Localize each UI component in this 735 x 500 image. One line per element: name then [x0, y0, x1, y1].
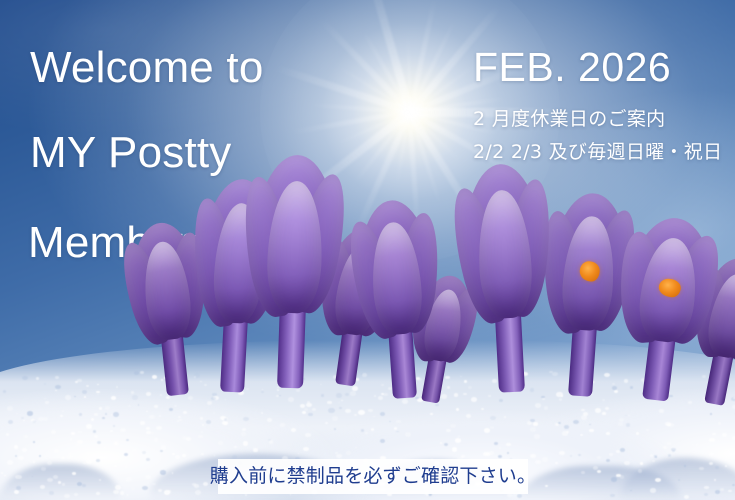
snow-crystal — [113, 412, 119, 416]
snow-crystal — [559, 398, 563, 401]
crocus-flower — [454, 160, 558, 394]
snow-crystal — [402, 399, 408, 404]
snow-crystal — [86, 385, 89, 387]
snow-crystal — [49, 491, 54, 495]
snow-crystal — [699, 467, 703, 470]
snow-crystal — [242, 428, 246, 431]
snow-crystal — [533, 422, 537, 425]
prohibited-items-warning-text: 購入前に禁制品を必ずご確認下さい。 — [210, 466, 536, 487]
snow-crystal — [253, 448, 257, 451]
snow-crystal — [115, 443, 117, 444]
snow-crystal — [41, 467, 46, 471]
snow-crystal — [371, 428, 374, 431]
snow-crystal — [618, 422, 623, 426]
snow-crystal — [16, 486, 21, 490]
snow-crystal — [79, 413, 82, 416]
snow-crystal — [481, 408, 484, 411]
snow-crystal — [597, 456, 600, 458]
snow-crystal — [352, 386, 358, 391]
snow-crystal — [62, 483, 66, 486]
snow-crystal — [172, 453, 175, 455]
welcome-heading-line-2-brand: MY Postty — [30, 129, 232, 177]
snow-crystal — [712, 433, 715, 435]
snow-crystal — [91, 418, 94, 421]
snow-crystal — [722, 433, 727, 437]
snow-crystal — [131, 391, 134, 394]
snow-crystal — [94, 413, 98, 416]
snow-crystal — [78, 431, 81, 433]
snow-crystal — [396, 420, 400, 423]
snow-crystal — [99, 479, 101, 481]
snow-crystal — [99, 407, 102, 409]
snow-crystal — [126, 439, 129, 441]
month-title: FEB. 2026 — [473, 45, 671, 90]
snow-crystal — [114, 465, 117, 467]
snow-crystal — [334, 428, 336, 430]
snow-crystal — [127, 494, 129, 495]
snow-crystal — [161, 445, 167, 449]
snow-crystal — [115, 485, 121, 489]
snow-crystal — [168, 490, 171, 492]
snow-crystal — [14, 445, 18, 448]
snow-crystal — [188, 396, 193, 400]
snow-crystal — [6, 433, 9, 435]
snow-crystal — [435, 404, 438, 407]
snow-crystal — [471, 397, 477, 402]
snow-crystal — [72, 472, 76, 475]
welcome-heading-line-1: Welcome to — [30, 44, 264, 92]
snow-crystal — [595, 408, 601, 413]
snow-crystal — [213, 412, 215, 414]
snow-crystal — [732, 436, 735, 440]
snow-crystal — [325, 422, 327, 424]
snow-crystal — [70, 438, 73, 440]
snow-crystal — [94, 435, 98, 438]
snow-crystal — [542, 457, 548, 461]
snow-crystal — [126, 477, 131, 481]
snow-crystal — [499, 447, 501, 449]
snow-crystal — [466, 414, 471, 418]
snow-crystal — [62, 410, 64, 412]
snow-crystal — [655, 478, 660, 482]
snow-crystal — [646, 429, 649, 431]
snow-crystal — [102, 417, 105, 419]
snow-crystal — [58, 481, 61, 483]
snow-crystal — [276, 395, 279, 397]
snow-crystal — [394, 427, 398, 430]
snow-crystal — [650, 454, 654, 457]
snow-crystal — [714, 479, 716, 481]
snow-crystal — [570, 455, 572, 457]
snow-crystal — [146, 427, 150, 430]
snow-crystal — [710, 413, 712, 415]
snow-crystal — [152, 483, 155, 485]
snow-crystal — [430, 413, 432, 415]
snow-crystal — [195, 490, 201, 494]
snow-crystal — [113, 425, 115, 426]
snow-crystal — [456, 408, 459, 410]
snow-crystal — [55, 385, 61, 389]
snow-crystal — [580, 434, 583, 436]
snow-crystal — [625, 415, 627, 416]
snow-crystal — [650, 488, 656, 492]
snow-crystal — [444, 443, 448, 446]
snow-crystal — [380, 412, 385, 416]
snow-crystal — [40, 485, 45, 489]
snow-crystal — [628, 415, 630, 416]
snow-crystal — [77, 482, 82, 486]
snow-crystal — [605, 407, 609, 410]
snow-crystal — [234, 446, 236, 448]
snow-crystal — [355, 447, 357, 448]
snow-crystal — [332, 416, 338, 421]
holiday-notice-line-2: 2/2 2/3 及び毎週日曜・祝日 — [473, 141, 722, 164]
snow-crystal — [76, 444, 79, 446]
snow-crystal — [328, 408, 334, 413]
crocus-flower — [242, 151, 346, 389]
snow-crystal — [179, 419, 182, 421]
snow-crystal — [132, 448, 137, 452]
snow-crystal — [160, 470, 166, 474]
snow-crystal — [7, 406, 13, 411]
snow-crystal — [14, 490, 19, 494]
snow-crystal — [201, 453, 204, 455]
snow-crystal — [154, 438, 158, 441]
snow-crystal — [22, 376, 28, 380]
snow-crystal — [1, 472, 3, 474]
snow-crystal — [178, 416, 181, 418]
snow-crystal — [450, 424, 456, 429]
snow-crystal — [7, 460, 13, 465]
snow-crystal — [243, 441, 248, 445]
snow-crystal — [302, 411, 306, 414]
snow-crystal — [33, 441, 36, 443]
snow-crystal — [44, 383, 46, 385]
snow-crystal — [361, 429, 364, 431]
snow-crystal — [154, 405, 157, 407]
snow-crystal — [405, 432, 411, 437]
snow-crystal — [277, 389, 279, 391]
snow-crystal — [671, 448, 676, 451]
snow-crystal — [202, 424, 204, 426]
snow-crystal — [544, 406, 549, 410]
snow-crystal — [606, 432, 609, 435]
snow-crystal — [729, 453, 733, 456]
snow-crystal — [667, 442, 671, 445]
snow-crystal — [105, 406, 110, 410]
snow-crystal — [728, 490, 732, 493]
snow-crystal — [45, 401, 48, 403]
crocus-flower — [349, 196, 447, 401]
snow-crystal — [305, 433, 311, 437]
snow-crystal — [82, 390, 87, 394]
snow-crystal — [336, 393, 342, 398]
snow-crystal — [113, 490, 118, 494]
snow-crystal — [104, 447, 106, 448]
snow-crystal — [21, 417, 24, 419]
snow-crystal — [535, 403, 541, 408]
snow-crystal — [312, 408, 316, 411]
snow-crystal — [725, 465, 727, 467]
snow-crystal — [380, 439, 385, 443]
snow-crystal — [602, 412, 605, 414]
snow-crystal — [175, 455, 180, 459]
members-page-banner: Welcome to MY Postty Members page FEB. 2… — [0, 0, 735, 500]
snow-crystal — [120, 428, 125, 432]
snow-crystal — [684, 495, 689, 499]
snow-crystal — [241, 432, 246, 436]
snow-crystal — [145, 475, 151, 479]
snow-crystal — [132, 395, 138, 400]
snow-crystal — [24, 435, 28, 438]
snow-crystal — [484, 428, 490, 433]
snow-crystal — [27, 411, 33, 415]
snow-crystal — [22, 448, 27, 452]
snow-crystal — [545, 485, 548, 487]
snow-crystal — [611, 477, 617, 482]
snow-crystal — [626, 423, 631, 426]
snow-crystal — [350, 391, 356, 396]
snow-crystal — [581, 409, 584, 411]
snow-crystal — [507, 452, 509, 454]
snow-crystal — [87, 452, 89, 454]
snow-crystal — [718, 422, 721, 424]
snow-crystal — [110, 430, 113, 432]
snow-crystal — [321, 394, 324, 396]
snow-crystal — [146, 411, 148, 412]
snow-crystal — [120, 491, 125, 494]
snow-crystal — [77, 379, 81, 382]
snow-crystal — [659, 409, 664, 413]
snow-crystal — [96, 492, 100, 495]
snow-crystal — [15, 455, 17, 456]
snow-crystal — [354, 414, 357, 416]
snow-crystal — [267, 418, 272, 422]
snow-crystal — [96, 459, 100, 462]
snow-crystal — [668, 454, 672, 457]
snow-crystal — [345, 393, 349, 396]
snow-crystal — [16, 413, 18, 414]
snow-crystal — [288, 397, 294, 401]
prohibited-items-warning-banner[interactable]: 購入前に禁制品を必ずご確認下さい。 — [218, 459, 528, 494]
snow-crystal — [291, 428, 296, 432]
snow-crystal — [159, 415, 161, 416]
snow-crystal — [655, 456, 658, 458]
snow-crystal — [203, 482, 208, 486]
snow-crystal — [534, 434, 540, 438]
snow-crystal — [455, 438, 461, 442]
snow-crystal — [704, 486, 709, 490]
snow-crystal — [156, 426, 162, 430]
snow-crystal — [489, 451, 494, 455]
snow-crystal — [452, 447, 458, 451]
holiday-notice-line-1: 2 月度休業日のご案内 — [473, 108, 665, 131]
snow-crystal — [490, 426, 494, 429]
snow-crystal — [224, 418, 228, 421]
snow-crystal — [65, 395, 71, 400]
snow-crystal — [15, 475, 21, 480]
snow-crystal — [638, 469, 642, 472]
snow-crystal — [140, 421, 144, 424]
snow-crystal — [261, 412, 264, 414]
snow-crystal — [530, 427, 536, 431]
snow-crystal — [715, 466, 719, 469]
snow-crystal — [149, 415, 154, 419]
snow-crystal — [82, 484, 85, 487]
